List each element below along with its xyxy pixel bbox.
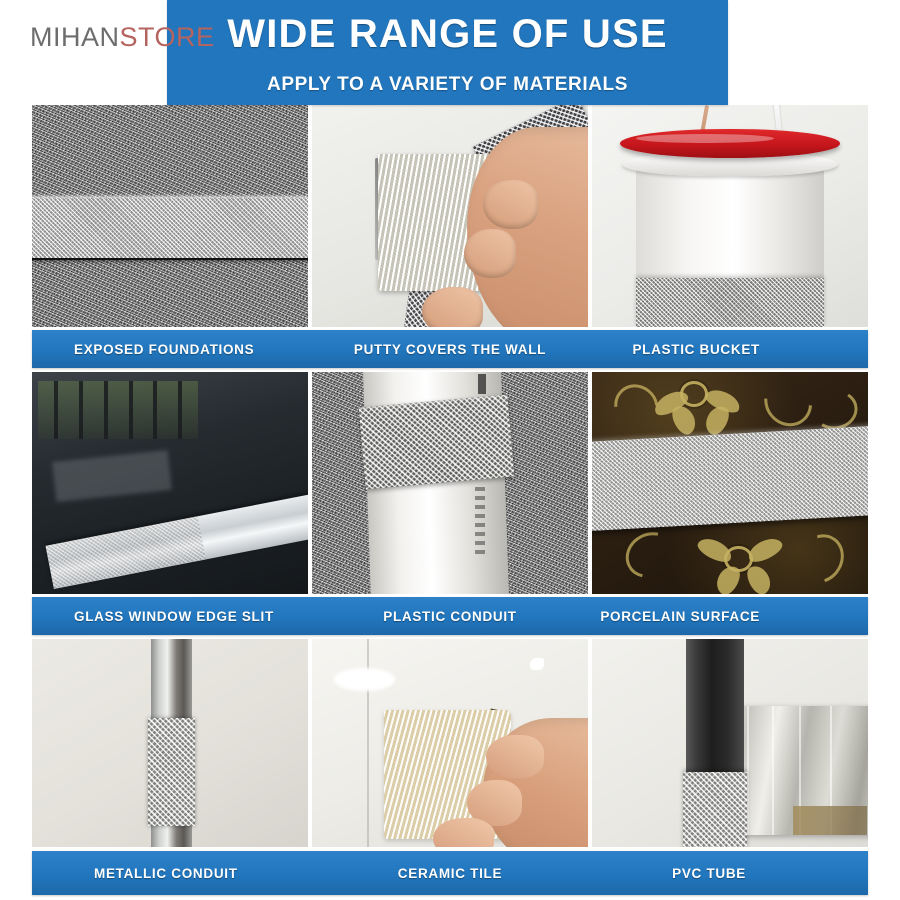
caption-bar-row-1: EXPOSED FOUNDATIONS PUTTY COVERS THE WAL… — [32, 330, 868, 368]
photo-cell-plastic-bucket — [592, 105, 868, 327]
railing-bar — [129, 381, 133, 439]
railing-bar — [79, 381, 83, 439]
brand-name-part-two: STORE — [120, 22, 215, 52]
photo-cell-exposed-foundations — [32, 105, 308, 327]
photo-cell-glass-window-edge-slit — [32, 372, 308, 594]
photo-cell-putty-covers-wall — [312, 105, 588, 327]
tape-shadow-edge — [32, 258, 308, 260]
caption-bar-row-3: METALLIC CONDUIT CERAMIC TILE PVC TUBE — [32, 851, 868, 895]
white-tape-strip — [592, 426, 868, 531]
tape-wrap — [148, 718, 195, 826]
finger — [433, 818, 494, 847]
pipe-marking-top — [478, 374, 486, 394]
application-grid: EXPOSED FOUNDATIONS PUTTY COVERS THE WAL… — [32, 105, 868, 899]
grid-row-2: GLASS WINDOW EDGE SLIT PLASTIC CONDUIT P… — [32, 372, 868, 635]
tape-wrap-band — [358, 395, 514, 490]
tape-strip — [32, 198, 308, 258]
foliage-reflection — [38, 381, 198, 439]
pipe-marking-text — [475, 487, 485, 554]
railing-bar — [178, 381, 182, 439]
grid-row-3: METALLIC CONDUIT CERAMIC TILE PVC TUBE — [32, 639, 868, 895]
black-pvc-tube — [686, 639, 744, 785]
finger — [483, 180, 538, 229]
photo-cell-porcelain-surface — [592, 372, 868, 594]
brand-name-part-one: MIHAN — [30, 22, 120, 52]
finger — [464, 229, 516, 278]
foil-crease — [772, 706, 774, 835]
header-banner: WIDE RANGE OF USE APPLY TO A VARIETY OF … — [167, 0, 728, 105]
railing-bar — [104, 381, 108, 439]
light-reflection — [334, 668, 395, 691]
photo-cell-pvc-tube — [592, 639, 868, 847]
brand-logo: MIHANSTORE — [30, 22, 215, 53]
finger — [422, 287, 483, 327]
photo-cell-plastic-conduit — [312, 372, 588, 594]
finger — [486, 735, 544, 779]
concrete-wall-lower — [32, 254, 308, 327]
caption-bar-row-2: GLASS WINDOW EDGE SLIT PLASTIC CONDUIT P… — [32, 597, 868, 635]
tape-band — [636, 278, 824, 327]
caption-ceramic-tile: CERAMIC TILE — [398, 866, 502, 881]
caption-glass-window-edge-slit: GLASS WINDOW EDGE SLIT — [74, 609, 274, 624]
railing-bar — [54, 381, 58, 439]
caption-exposed-foundations: EXPOSED FOUNDATIONS — [74, 342, 254, 357]
photo-cell-ceramic-tile — [312, 639, 588, 847]
caption-plastic-conduit: PLASTIC CONDUIT — [383, 609, 517, 624]
caption-pvc-tube: PVC TUBE — [672, 866, 746, 881]
grid-row-1: EXPOSED FOUNDATIONS PUTTY COVERS THE WAL… — [32, 105, 868, 368]
wall-speck — [530, 658, 544, 670]
lid-highlight — [636, 134, 774, 143]
page-title: WIDE RANGE OF USE — [167, 14, 728, 54]
page-subtitle: APPLY TO A VARIETY OF MATERIALS — [167, 75, 728, 94]
photo-cell-metallic-conduit — [32, 639, 308, 847]
concrete-wall-upper — [32, 105, 308, 203]
caption-metallic-conduit: METALLIC CONDUIT — [94, 866, 238, 881]
infographic-page: MIHANSTORE WIDE RANGE OF USE APPLY TO A … — [0, 0, 900, 900]
caption-plastic-bucket: PLASTIC BUCKET — [632, 342, 760, 357]
foil-gold-section — [793, 806, 867, 834]
caption-porcelain-surface: PORCELAIN SURFACE — [600, 609, 760, 624]
railing-bar — [153, 381, 157, 439]
caption-putty-covers-the-wall: PUTTY COVERS THE WALL — [354, 342, 546, 357]
tape-wrap-on-tube — [683, 772, 746, 847]
foil-crease — [747, 706, 749, 835]
